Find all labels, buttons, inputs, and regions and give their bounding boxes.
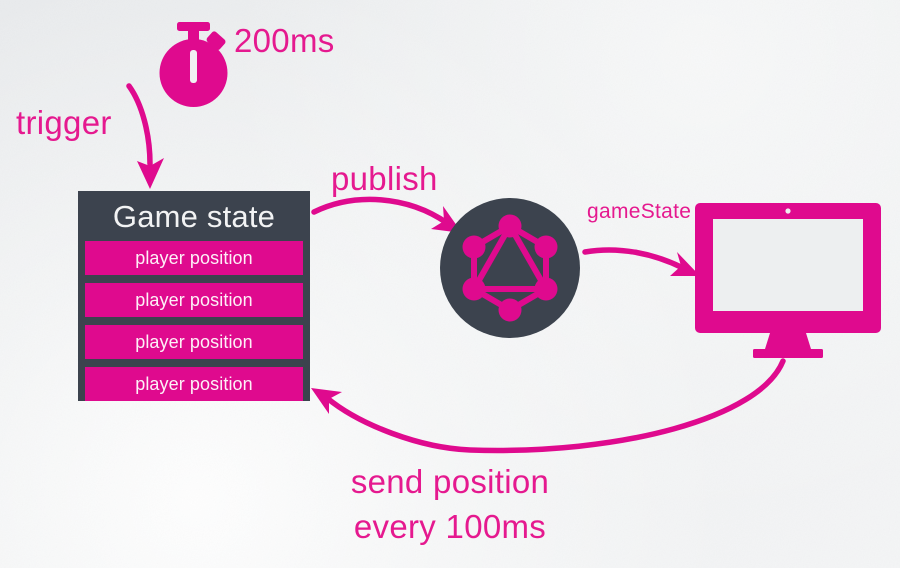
player-position-row: player position [85, 241, 303, 275]
player-position-list: player position player position player p… [85, 241, 303, 401]
gamestate-edge-label: gameState [587, 200, 691, 224]
send-position-edge-label: send position every 100ms [0, 459, 900, 549]
trigger-arrow [129, 86, 164, 189]
desktop-monitor-icon [695, 203, 881, 358]
game-state-title: Game state [85, 196, 303, 238]
timer-interval-label: 200ms [234, 22, 335, 60]
gamestate-arrow [585, 250, 700, 276]
publish-arrow [314, 199, 462, 233]
publish-edge-label: publish [331, 160, 438, 198]
player-position-row: player position [85, 325, 303, 359]
send-position-arrow [311, 361, 783, 450]
send-position-line-2: every 100ms [0, 504, 900, 549]
game-state-panel: Game state player position player positi… [78, 191, 310, 401]
graphql-logo-icon [440, 198, 580, 338]
player-position-row: player position [85, 367, 303, 401]
diagram-canvas: Game state player position player positi… [0, 0, 900, 568]
send-position-line-1: send position [0, 459, 900, 504]
player-position-row: player position [85, 283, 303, 317]
trigger-edge-label: trigger [16, 104, 112, 142]
stopwatch-icon [160, 22, 228, 107]
